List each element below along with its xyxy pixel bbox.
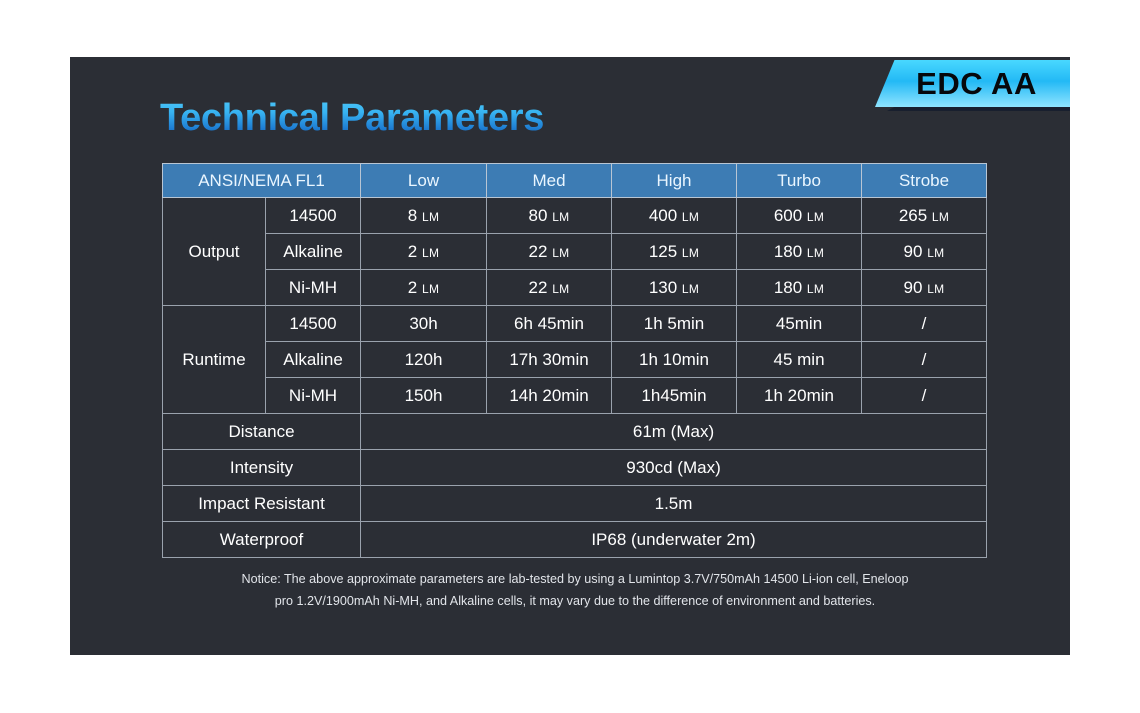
header-cell-med: Med: [487, 164, 612, 198]
content-panel: EDC AA Technical Parameters ANSI/: [70, 57, 1070, 655]
cell-output-nimh-med: 22 LM: [487, 270, 612, 306]
cell-runtime-14500-turbo: 45min: [737, 306, 862, 342]
cell-output-14500-high: 400 LM: [612, 198, 737, 234]
slide-root: EDC AA Technical Parameters ANSI/: [0, 0, 1140, 713]
table-row: Alkaline 120h 17h 30min 1h 10min 45 min …: [163, 342, 987, 378]
spec-value-impact-resistant: 1.5m: [361, 486, 987, 522]
cell-unit: LM: [682, 210, 699, 224]
cell-unit: LM: [807, 210, 824, 224]
row-label-runtime-nimh: Ni-MH: [266, 378, 361, 414]
table-row: Ni-MH 150h 14h 20min 1h45min 1h 20min /: [163, 378, 987, 414]
header-cell-high: High: [612, 164, 737, 198]
badge-shadow: [887, 107, 1070, 111]
notice-line-2: pro 1.2V/1900mAh Ni-MH, and Alkaline cel…: [162, 591, 988, 613]
cell-runtime-14500-high: 1h 5min: [612, 306, 737, 342]
table-row: Intensity 930cd (Max): [163, 450, 987, 486]
cell-runtime-nimh-strobe: /: [862, 378, 987, 414]
spec-label-impact-resistant: Impact Resistant: [163, 486, 361, 522]
cell-runtime-nimh-high: 1h45min: [612, 378, 737, 414]
notice-line-1: Notice: The above approximate parameters…: [162, 569, 988, 591]
cell-output-nimh-strobe: 90 LM: [862, 270, 987, 306]
cell-value: 180: [774, 242, 802, 261]
cell-runtime-14500-med: 6h 45min: [487, 306, 612, 342]
cell-output-alkaline-turbo: 180 LM: [737, 234, 862, 270]
table-row: Impact Resistant 1.5m: [163, 486, 987, 522]
header-cell-strobe: Strobe: [862, 164, 987, 198]
cell-output-alkaline-low: 2 LM: [361, 234, 487, 270]
row-label-runtime-14500: 14500: [266, 306, 361, 342]
cell-unit: LM: [927, 246, 944, 260]
cell-value: 22: [529, 278, 548, 297]
row-label-output-nimh: Ni-MH: [266, 270, 361, 306]
cell-unit: LM: [422, 210, 439, 224]
spec-label-waterproof: Waterproof: [163, 522, 361, 558]
cell-output-alkaline-med: 22 LM: [487, 234, 612, 270]
cell-unit: LM: [682, 246, 699, 260]
group-label-output: Output: [163, 198, 266, 306]
cell-value: 2: [408, 242, 417, 261]
cell-unit: LM: [552, 246, 569, 260]
cell-value: 180: [774, 278, 802, 297]
spec-table-wrapper: ANSI/NEMA FL1 Low Med High Turbo Strobe …: [162, 163, 986, 558]
cell-runtime-alkaline-med: 17h 30min: [487, 342, 612, 378]
table-row: Waterproof IP68 (underwater 2m): [163, 522, 987, 558]
cell-value: 600: [774, 206, 802, 225]
cell-value: 8: [408, 206, 417, 225]
header-cell-turbo: Turbo: [737, 164, 862, 198]
row-label-runtime-alkaline: Alkaline: [266, 342, 361, 378]
cell-value: 90: [904, 278, 923, 297]
cell-output-14500-med: 80 LM: [487, 198, 612, 234]
cell-runtime-alkaline-strobe: /: [862, 342, 987, 378]
table-row: Alkaline 2 LM 22 LM 125 LM 180 LM 90 LM: [163, 234, 987, 270]
spec-label-intensity: Intensity: [163, 450, 361, 486]
spec-value-distance: 61m (Max): [361, 414, 987, 450]
spec-table: ANSI/NEMA FL1 Low Med High Turbo Strobe …: [162, 163, 987, 558]
cell-output-14500-strobe: 265 LM: [862, 198, 987, 234]
group-label-runtime: Runtime: [163, 306, 266, 414]
table-row: Distance 61m (Max): [163, 414, 987, 450]
cell-output-nimh-turbo: 180 LM: [737, 270, 862, 306]
table-header-row: ANSI/NEMA FL1 Low Med High Turbo Strobe: [163, 164, 987, 198]
cell-unit: LM: [807, 282, 824, 296]
header-cell-ansi: ANSI/NEMA FL1: [163, 164, 361, 198]
cell-unit: LM: [682, 282, 699, 296]
table-body: Output 14500 8 LM 80 LM 400 LM 600 LM 26…: [163, 198, 987, 558]
cell-value: 125: [649, 242, 677, 261]
cell-runtime-14500-strobe: /: [862, 306, 987, 342]
header-cell-low: Low: [361, 164, 487, 198]
cell-value: 80: [529, 206, 548, 225]
cell-runtime-nimh-turbo: 1h 20min: [737, 378, 862, 414]
cell-runtime-alkaline-turbo: 45 min: [737, 342, 862, 378]
cell-unit: LM: [552, 210, 569, 224]
cell-runtime-nimh-low: 150h: [361, 378, 487, 414]
table-header: ANSI/NEMA FL1 Low Med High Turbo Strobe: [163, 164, 987, 198]
cell-value: 400: [649, 206, 677, 225]
cell-output-alkaline-high: 125 LM: [612, 234, 737, 270]
cell-unit: LM: [927, 282, 944, 296]
spec-label-distance: Distance: [163, 414, 361, 450]
cell-value: 265: [899, 206, 927, 225]
row-label-output-14500: 14500: [266, 198, 361, 234]
cell-unit: LM: [422, 282, 439, 296]
cell-runtime-alkaline-high: 1h 10min: [612, 342, 737, 378]
notice-text: Notice: The above approximate parameters…: [162, 569, 988, 612]
cell-unit: LM: [807, 246, 824, 260]
cell-output-14500-low: 8 LM: [361, 198, 487, 234]
cell-unit: LM: [932, 210, 949, 224]
cell-unit: LM: [552, 282, 569, 296]
badge-label: EDC AA: [908, 66, 1037, 102]
table-row: Ni-MH 2 LM 22 LM 130 LM 180 LM 90 LM: [163, 270, 987, 306]
cell-output-nimh-high: 130 LM: [612, 270, 737, 306]
spec-value-intensity: 930cd (Max): [361, 450, 987, 486]
cell-value: 130: [649, 278, 677, 297]
cell-runtime-alkaline-low: 120h: [361, 342, 487, 378]
edc-aa-badge: EDC AA: [875, 60, 1070, 107]
cell-value: 22: [529, 242, 548, 261]
page-title: Technical Parameters: [160, 97, 544, 140]
cell-output-14500-turbo: 600 LM: [737, 198, 862, 234]
cell-runtime-14500-low: 30h: [361, 306, 487, 342]
row-label-output-alkaline: Alkaline: [266, 234, 361, 270]
cell-runtime-nimh-med: 14h 20min: [487, 378, 612, 414]
table-row: Runtime 14500 30h 6h 45min 1h 5min 45min…: [163, 306, 987, 342]
badge-shape: EDC AA: [875, 60, 1070, 107]
table-row: Output 14500 8 LM 80 LM 400 LM 600 LM 26…: [163, 198, 987, 234]
cell-output-nimh-low: 2 LM: [361, 270, 487, 306]
spec-value-waterproof: IP68 (underwater 2m): [361, 522, 987, 558]
cell-value: 2: [408, 278, 417, 297]
cell-value: 90: [904, 242, 923, 261]
cell-output-alkaline-strobe: 90 LM: [862, 234, 987, 270]
cell-unit: LM: [422, 246, 439, 260]
